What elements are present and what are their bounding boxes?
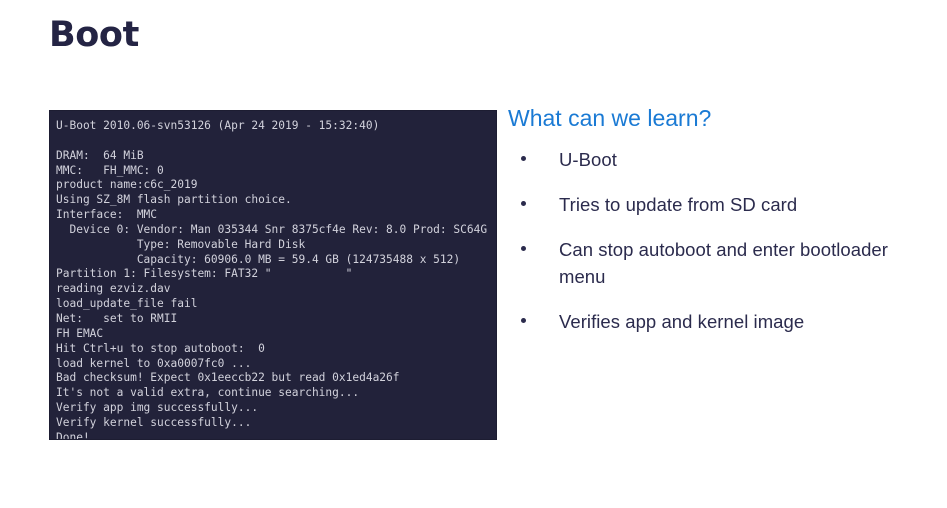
terminal-line: Type: Removable Hard Disk [56, 238, 496, 253]
list-item-label: U-Boot [559, 147, 918, 173]
bullet-dot-icon [521, 318, 535, 323]
slide-root: Boot U-Boot 2010.06-svn53126 (Apr 24 201… [0, 0, 947, 508]
right-panel-heading: What can we learn? [508, 104, 918, 133]
terminal-line: Bad checksum! Expect 0x1eeccb22 but read… [56, 371, 496, 386]
bullet-dot-icon [521, 156, 535, 161]
terminal-line: Net: set to RMII [56, 312, 496, 327]
right-column: What can we learn? U-BootTries to update… [508, 104, 918, 354]
uboot-console-screenshot: U-Boot 2010.06-svn53126 (Apr 24 2019 - 1… [49, 110, 497, 440]
list-item: Can stop autoboot and enter bootloader m… [508, 237, 918, 290]
list-item-label: Tries to update from SD card [559, 192, 918, 218]
terminal-line: MMC: FH_MMC: 0 [56, 164, 496, 179]
terminal-lines-container: U-Boot 2010.06-svn53126 (Apr 24 2019 - 1… [56, 119, 496, 440]
terminal-line: Device 0: Vendor: Man 035344 Snr 8375cf4… [56, 223, 496, 238]
terminal-line: product name:c6c_2019 [56, 178, 496, 193]
terminal-line: U-Boot 2010.06-svn53126 (Apr 24 2019 - 1… [56, 119, 496, 134]
terminal-line [56, 134, 496, 149]
list-item: Tries to update from SD card [508, 192, 918, 218]
terminal-line: Partition 1: Filesystem: FAT32 " " [56, 267, 496, 282]
terminal-line: It's not a valid extra, continue searchi… [56, 386, 496, 401]
terminal-line: load kernel to 0xa0007fc0 ... [56, 357, 496, 372]
terminal-line: Interface: MMC [56, 208, 496, 223]
terminal-line: FH EMAC [56, 327, 496, 342]
terminal-line: reading ezviz.dav [56, 282, 496, 297]
terminal-line: Verify app img successfully... [56, 401, 496, 416]
bullet-dot-icon [521, 246, 535, 251]
list-item: Verifies app and kernel image [508, 309, 918, 335]
terminal-line: load_update_file fail [56, 297, 496, 312]
terminal-line: DRAM: 64 MiB [56, 149, 496, 164]
list-item-label: Can stop autoboot and enter bootloader m… [559, 237, 918, 290]
takeaways-list: U-BootTries to update from SD cardCan st… [508, 147, 918, 335]
list-item: U-Boot [508, 147, 918, 173]
terminal-line: Hit Ctrl+u to stop autoboot: 0 [56, 342, 496, 357]
page-title: Boot [49, 14, 139, 56]
terminal-line: Using SZ_8M flash partition choice. [56, 193, 496, 208]
terminal-line: Capacity: 60906.0 MB = 59.4 GB (12473548… [56, 253, 496, 268]
terminal-line: Done! [56, 431, 496, 440]
bullet-dot-icon [521, 201, 535, 206]
list-item-label: Verifies app and kernel image [559, 309, 918, 335]
terminal-line: Verify kernel successfully... [56, 416, 496, 431]
